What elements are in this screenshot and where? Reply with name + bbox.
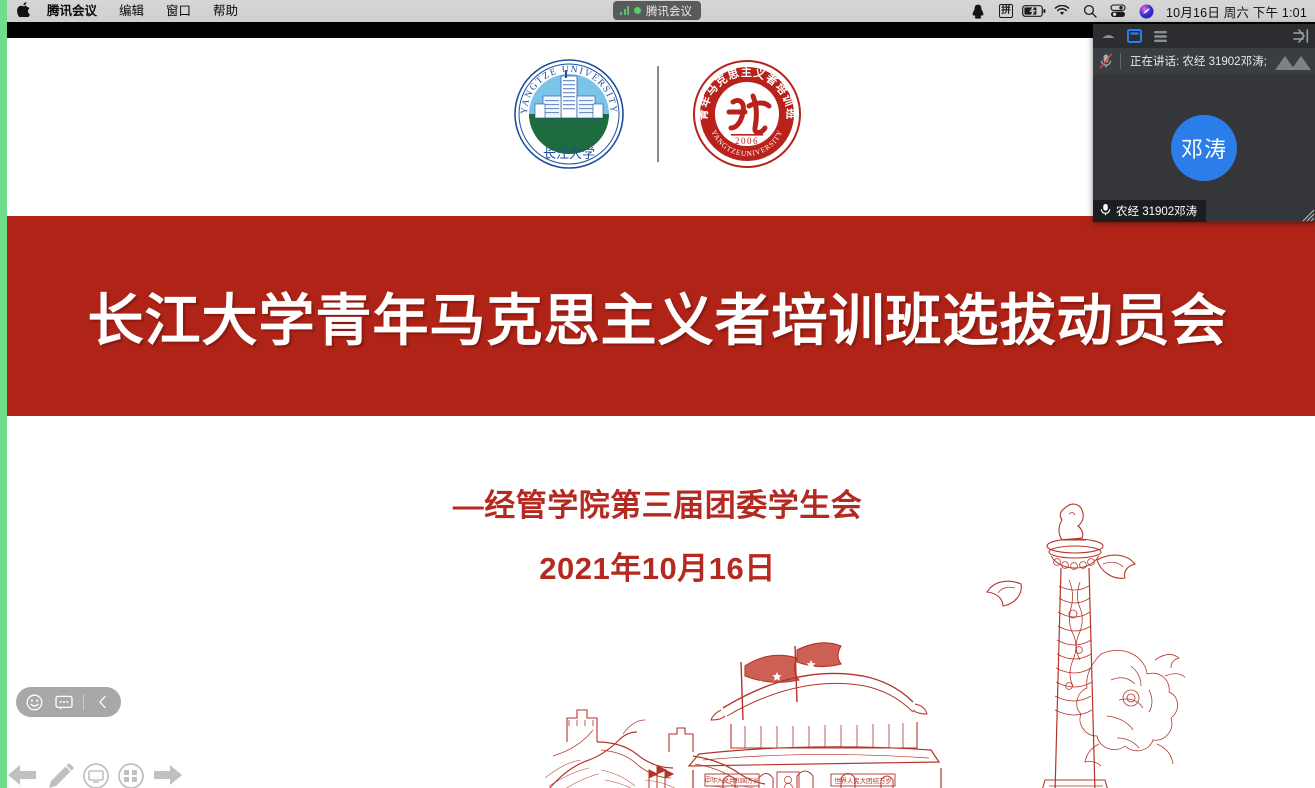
participant-nameplate: 农经 31902邓涛 bbox=[1093, 200, 1206, 222]
menu-bar-clock[interactable]: 10月16日 周六 下午 1:01 bbox=[1160, 2, 1307, 21]
green-status-dot-icon bbox=[634, 7, 641, 14]
svg-text:长江大学: 长江大学 bbox=[542, 146, 594, 161]
participant-name: 农经 31902邓涛 bbox=[1116, 203, 1197, 219]
page-title: 长江大学青年马克思主义者培训班选拔动员会 bbox=[88, 276, 1228, 357]
young-marxist-training-seal: 青年马克思主义者培训班 YANGTZEUNIVERSITY 2006 bbox=[691, 58, 803, 170]
search-icon[interactable] bbox=[1076, 0, 1104, 22]
menu-item-help[interactable]: 帮助 bbox=[202, 0, 249, 22]
meeting-video-panel[interactable]: 正在讲话: 农经 31902邓涛; 邓涛 bbox=[1093, 24, 1315, 222]
menu-item-edit[interactable]: 编辑 bbox=[108, 0, 155, 22]
signal-bars-icon bbox=[620, 6, 629, 15]
menu-item-app[interactable]: 腾讯会议 bbox=[36, 0, 108, 22]
participant-video-tile[interactable]: 邓涛 农经 31902邓涛 bbox=[1093, 74, 1315, 222]
video-panel-toolbar-right bbox=[1293, 29, 1309, 43]
previous-slide-button[interactable] bbox=[6, 762, 38, 788]
active-speaker-bar: 正在讲话: 农经 31902邓涛; bbox=[1093, 48, 1315, 74]
logo-divider bbox=[657, 66, 659, 162]
video-panel-toolbar bbox=[1093, 24, 1315, 48]
tiananmen-great-wall-huabiao-illustration: 中华人民共和国万岁 世界人民大团结万岁 bbox=[545, 494, 1185, 788]
screen-share-border-top bbox=[0, 0, 7, 22]
screen-options-button[interactable] bbox=[82, 762, 110, 788]
input-method-icon[interactable]: 拼 bbox=[992, 0, 1020, 22]
yangtze-university-logo: YANGTZE UNIVERSITY 长江大学 bbox=[513, 58, 625, 170]
active-speaker-label: 正在讲话: 农经 31902邓涛; bbox=[1130, 53, 1266, 69]
collapse-toolbar-button[interactable] bbox=[89, 689, 117, 715]
svg-text:中华人民共和国万岁: 中华人民共和国万岁 bbox=[705, 777, 759, 785]
slide-title-band: 长江大学青年马克思主义者培训班选拔动员会 bbox=[0, 216, 1315, 416]
chat-bubble-button[interactable] bbox=[50, 689, 78, 715]
menu-item-window[interactable]: 窗口 bbox=[155, 0, 202, 22]
mic-muted-icon[interactable] bbox=[1099, 53, 1113, 69]
qq-penguin-icon[interactable] bbox=[964, 0, 992, 22]
menu-bar-left: 腾讯会议 编辑 窗口 帮助 bbox=[0, 0, 249, 22]
speaker-bar-divider bbox=[1120, 53, 1121, 69]
minus-dash-icon[interactable] bbox=[1101, 30, 1116, 42]
svg-text:世界人民大团结万岁: 世界人民大团结万岁 bbox=[834, 776, 892, 785]
list-lines-icon[interactable] bbox=[1153, 30, 1168, 43]
avatar: 邓涛 bbox=[1171, 115, 1237, 181]
mic-icon bbox=[1100, 203, 1111, 219]
window-square-icon[interactable] bbox=[1127, 29, 1142, 43]
menu-bar-app-label: 腾讯会议 bbox=[646, 3, 692, 19]
battery-charging-icon[interactable] bbox=[1020, 0, 1048, 22]
panel-resize-grip-top[interactable] bbox=[1271, 48, 1315, 74]
next-slide-button[interactable] bbox=[152, 762, 184, 788]
svg-text:2006: 2006 bbox=[735, 136, 759, 146]
control-center-icon[interactable] bbox=[1104, 0, 1132, 22]
screen-root: 腾讯会议 编辑 窗口 帮助 腾讯会议 拼 bbox=[0, 0, 1315, 788]
slide-grid-button[interactable] bbox=[117, 762, 145, 788]
panel-resize-grip-bottom[interactable] bbox=[1299, 206, 1315, 222]
toolbar-divider bbox=[83, 694, 84, 710]
siri-icon[interactable] bbox=[1132, 0, 1160, 22]
macos-menu-bar: 腾讯会议 编辑 窗口 帮助 腾讯会议 拼 bbox=[0, 0, 1315, 22]
input-method-label: 拼 bbox=[999, 4, 1013, 18]
annotate-pen-button[interactable] bbox=[45, 762, 75, 788]
video-panel-toolbar-left bbox=[1101, 29, 1168, 43]
menu-bar-status-items: 拼 bbox=[964, 0, 1315, 22]
menu-bar-app-status-pill[interactable]: 腾讯会议 bbox=[613, 1, 701, 20]
reaction-toolbar bbox=[16, 687, 121, 717]
apple-logo-icon[interactable] bbox=[10, 2, 36, 19]
emoji-reaction-button[interactable] bbox=[20, 689, 48, 715]
arrow-to-right-icon[interactable] bbox=[1293, 29, 1309, 43]
presenter-controls bbox=[6, 758, 184, 788]
wifi-icon[interactable] bbox=[1048, 0, 1076, 22]
